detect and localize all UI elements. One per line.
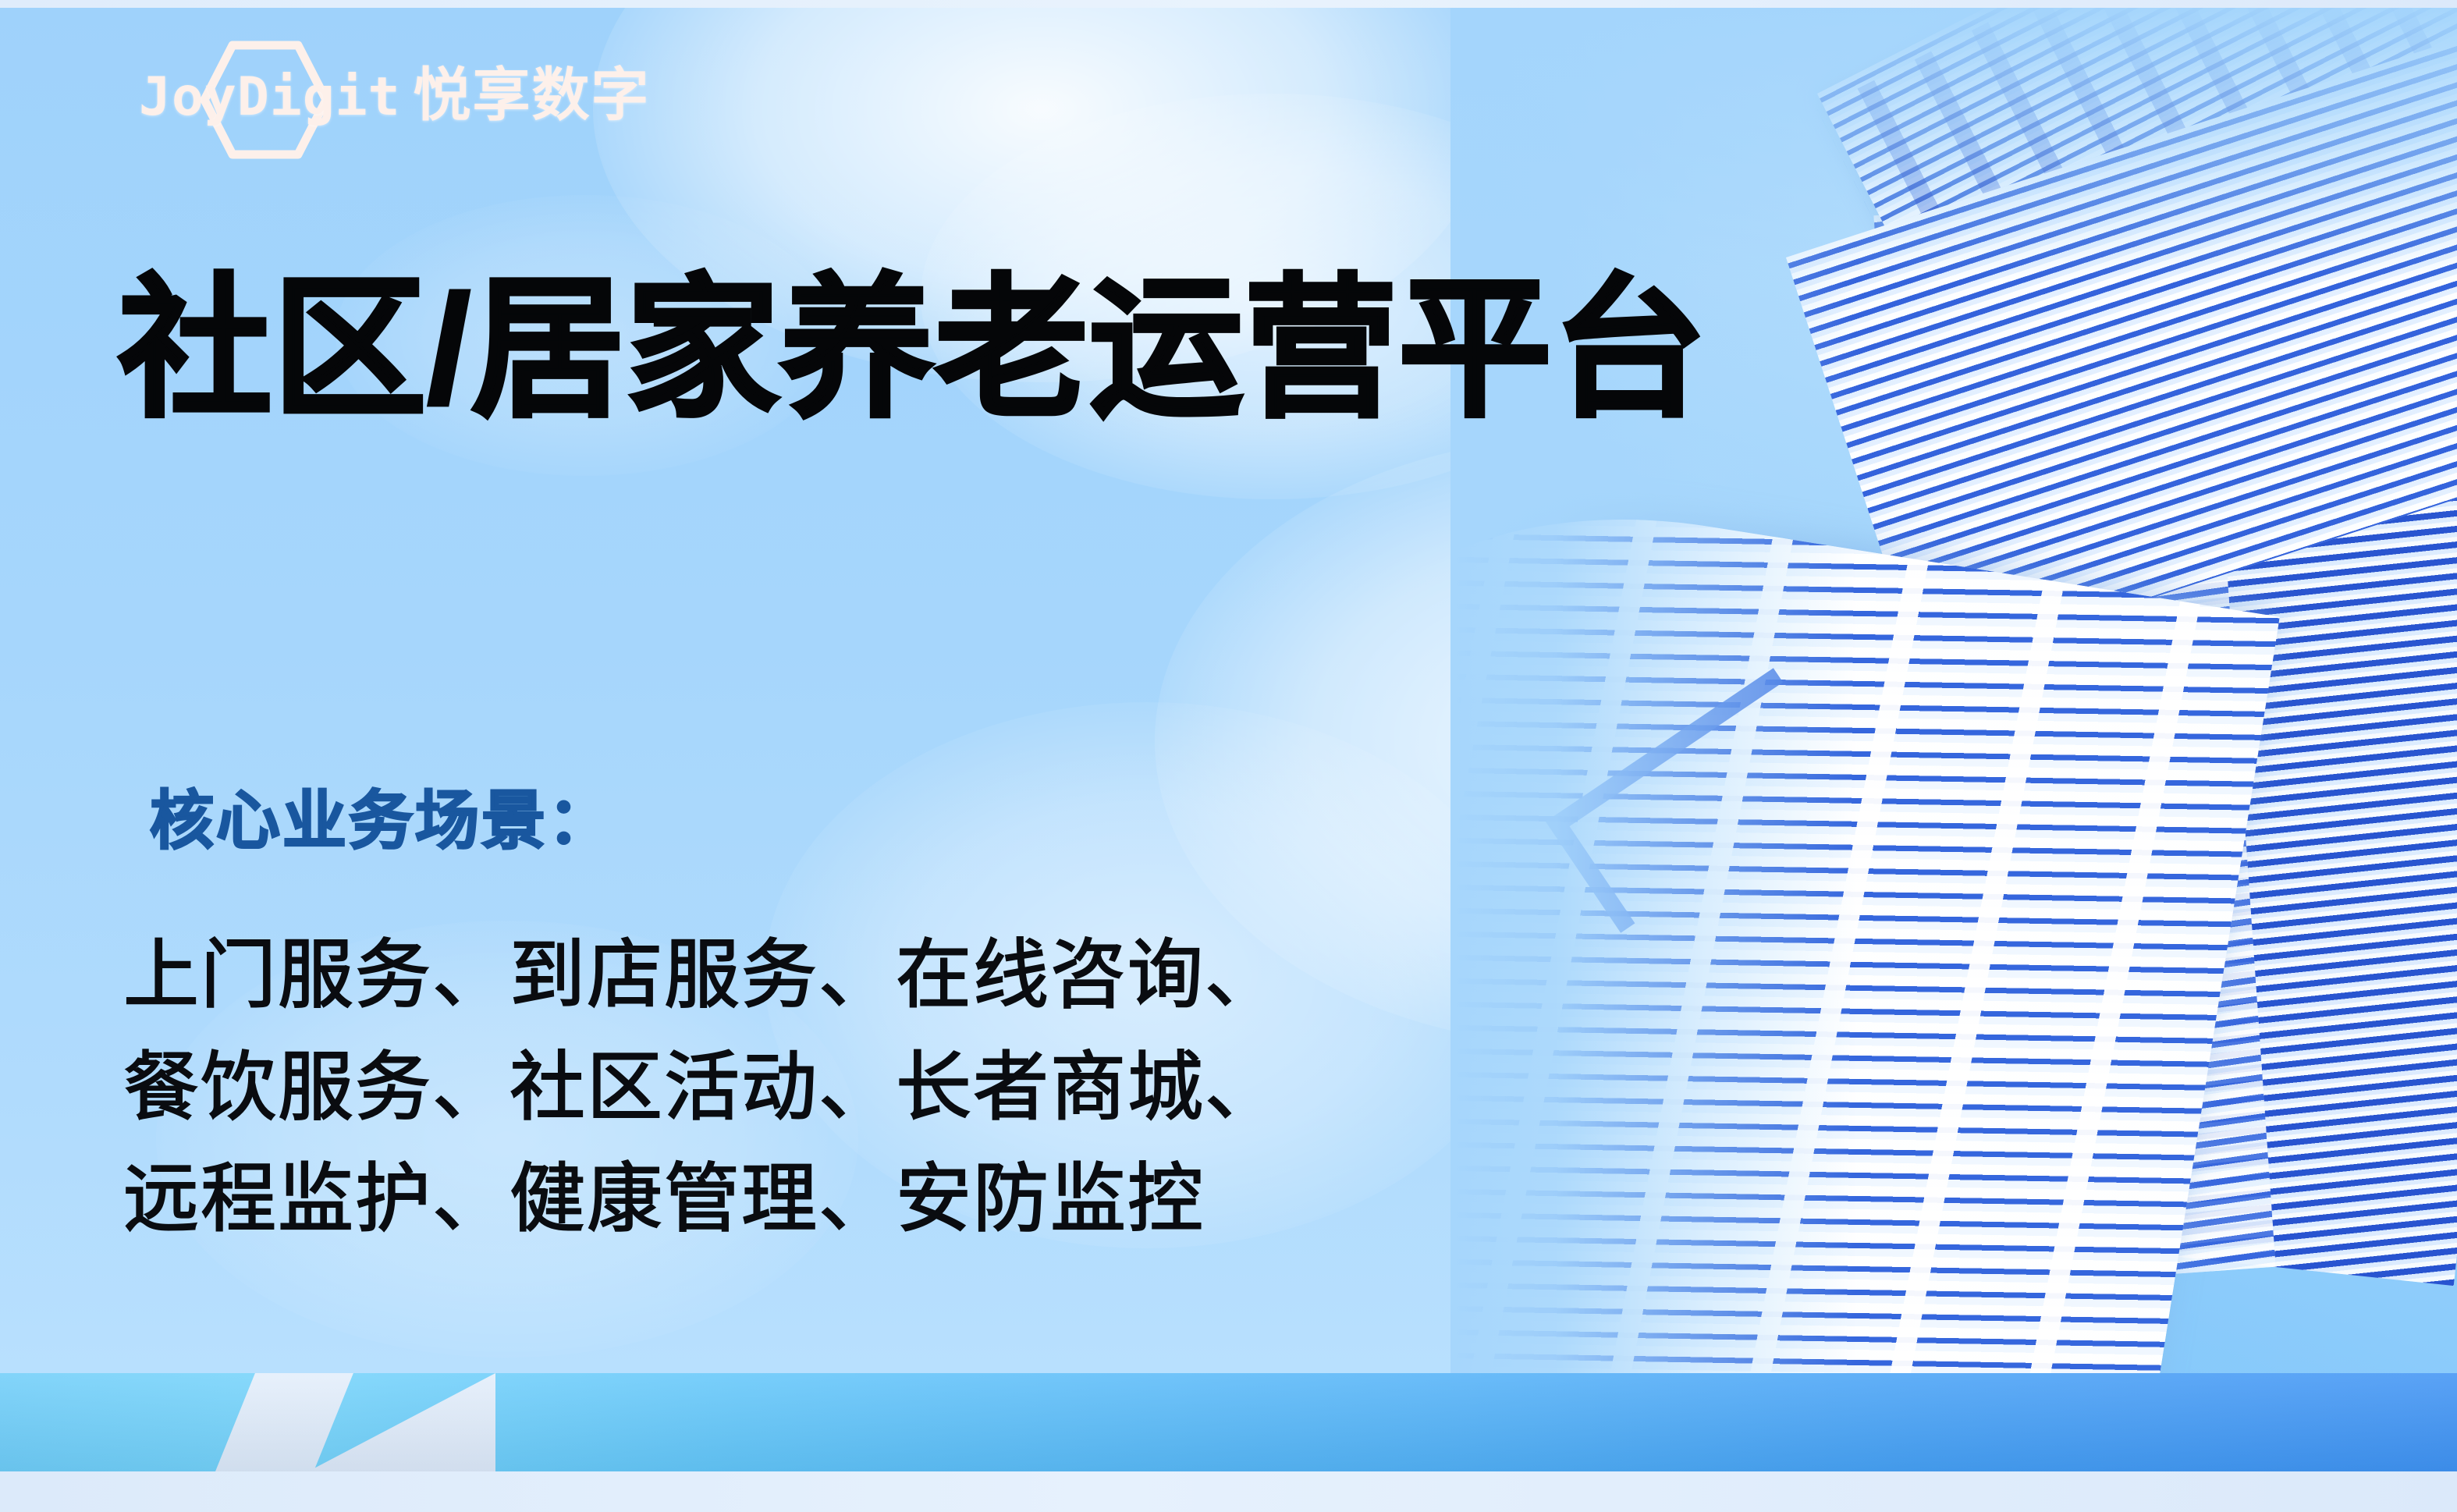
scenario-list: 上门服务、到店服务、在线咨询、 餐饮服务、社区活动、长者商城、 远程监护、健康管… bbox=[123, 919, 1528, 1255]
scenario-line: 上门服务、到店服务、在线咨询、 bbox=[123, 919, 1528, 1031]
page-title: 社区/居家养老运营平台 bbox=[119, 265, 1707, 434]
brand-logo-text: JoyDigit悦享数字 bbox=[139, 66, 685, 125]
scenario-line: 餐饮服务、社区活动、长者商城、 bbox=[123, 1031, 1528, 1144]
photo-top-fade bbox=[1450, 0, 2457, 281]
brand-logo: JoyDigit悦享数字 bbox=[139, 39, 685, 164]
footer-pale-strip bbox=[0, 1471, 2457, 1512]
brand-latin-text: JoyDigit bbox=[139, 66, 401, 128]
top-edge-strip bbox=[0, 0, 2457, 8]
scenario-line: 远程监护、健康管理、安防监控 bbox=[123, 1143, 1528, 1255]
brand-cjk-text: 悦享数字 bbox=[414, 62, 651, 127]
skyscraper-upward-view-photo bbox=[1450, 0, 2457, 1397]
section-subheading: 核心业务场景： bbox=[150, 768, 614, 861]
poster-canvas: JoyDigit悦享数字 社区/居家养老运营平台 核心业务场景： 上门服务、到店… bbox=[0, 0, 2457, 1512]
